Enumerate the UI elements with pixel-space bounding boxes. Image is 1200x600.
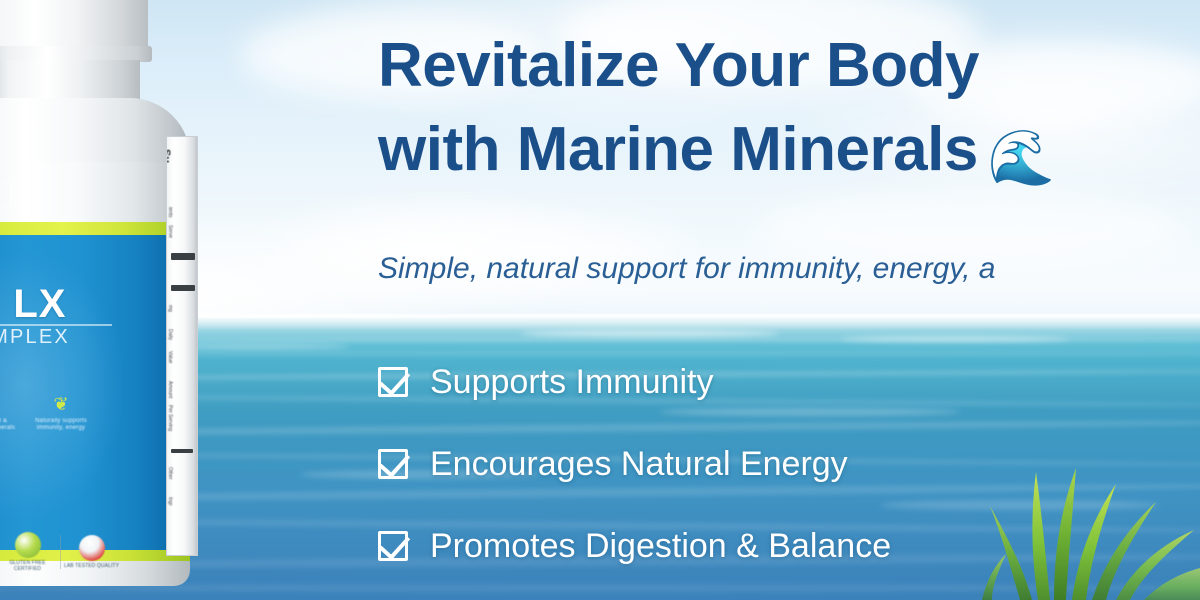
headline-line-2: with Marine Minerals bbox=[378, 115, 978, 184]
benefit-item: Supports Immunity bbox=[378, 352, 1078, 412]
benefit-label: Encourages Natural Energy bbox=[430, 444, 848, 484]
headline-line-2-wrap: with Marine Minerals🌊 bbox=[378, 108, 1200, 200]
benefits-list: Supports Immunity Encourages Natural Ene… bbox=[378, 352, 1078, 598]
banner-content: Revitalize Your Body with Marine Mineral… bbox=[0, 0, 1200, 600]
checkbox-checked-icon bbox=[378, 531, 408, 561]
checkbox-checked-icon bbox=[378, 449, 408, 479]
headline: Revitalize Your Body with Marine Mineral… bbox=[378, 24, 1200, 200]
benefit-label: Promotes Digestion & Balance bbox=[430, 526, 891, 566]
subheadline: Simple, natural support for immunity, en… bbox=[378, 248, 1200, 290]
benefit-item: Encourages Natural Energy bbox=[378, 434, 1078, 494]
benefit-label: Supports Immunity bbox=[430, 362, 713, 402]
benefit-item: Promotes Digestion & Balance bbox=[378, 516, 1078, 576]
headline-line-1: Revitalize Your Body bbox=[378, 31, 979, 100]
marketing-banner: ements Labs HRIVE LX NERAL COMPLEX ❧ ch … bbox=[0, 0, 1200, 600]
wave-icon: 🌊 bbox=[988, 116, 1055, 200]
checkbox-checked-icon bbox=[378, 367, 408, 397]
